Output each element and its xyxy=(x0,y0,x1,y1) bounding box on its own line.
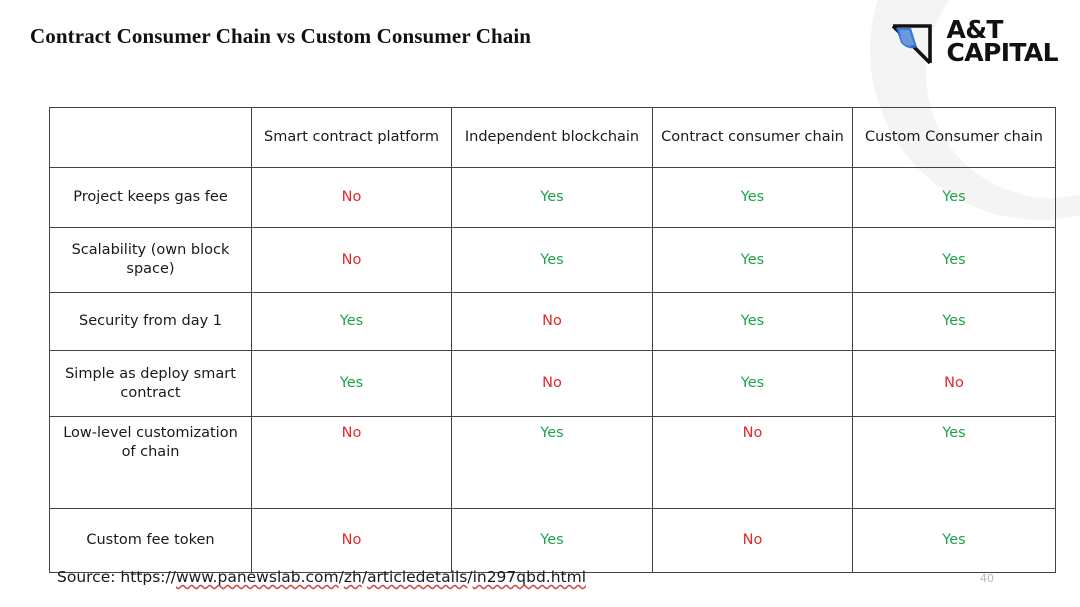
cell-value: Yes xyxy=(452,228,653,293)
source-prefix: Source: xyxy=(57,568,120,586)
table-header-row: Smart contract platform Independent bloc… xyxy=(50,108,1056,168)
row-label-custom-fee-token: Custom fee token xyxy=(50,509,252,573)
column-header-contract-consumer-chain: Contract consumer chain xyxy=(653,108,853,168)
row-label-security-from-day-1: Security from day 1 xyxy=(50,293,252,351)
row-label-simple-as-deploy-smart-contract: Simple as deploy smart contract xyxy=(50,351,252,417)
column-header-custom-consumer-chain: Custom Consumer chain xyxy=(853,108,1056,168)
cell-value: Yes xyxy=(252,351,452,417)
page-title: Contract Consumer Chain vs Custom Consum… xyxy=(30,24,531,49)
cell-value: No xyxy=(252,417,452,509)
cell-value: No xyxy=(252,509,452,573)
cell-value: No xyxy=(452,351,653,417)
brand-logo-text: A&T CAPITAL xyxy=(946,18,1058,64)
cell-value: Yes xyxy=(853,228,1056,293)
cell-value: Yes xyxy=(653,228,853,293)
column-header-smart-contract-platform: Smart contract platform xyxy=(252,108,452,168)
row-label-project-keeps-gas-fee: Project keeps gas fee xyxy=(50,168,252,228)
cell-value: No xyxy=(252,228,452,293)
table-row: Custom fee token No Yes No Yes xyxy=(50,509,1056,573)
cell-value: No xyxy=(653,417,853,509)
cell-value: Yes xyxy=(252,293,452,351)
source-citation: Source: https://www.panewslab.com/zh/art… xyxy=(57,568,586,586)
table-row: Low-level customization of chain No Yes … xyxy=(50,417,1056,509)
cell-value: Yes xyxy=(853,168,1056,228)
source-url-segment-zh: zh xyxy=(344,568,362,586)
cell-value: Yes xyxy=(653,293,853,351)
cell-value: Yes xyxy=(853,509,1056,573)
row-label-low-level-customization: Low-level customization of chain xyxy=(50,417,252,509)
triangle-arrow-mark-icon xyxy=(889,17,937,65)
brand-logo-line-2: CAPITAL xyxy=(946,41,1058,64)
cell-value: Yes xyxy=(853,293,1056,351)
table-row: Scalability (own block space) No Yes Yes… xyxy=(50,228,1056,293)
source-url-scheme: https:// xyxy=(120,568,176,586)
source-url-segment-file: in297qbd.html xyxy=(473,568,586,586)
row-label-scalability: Scalability (own block space) xyxy=(50,228,252,293)
cell-value: Yes xyxy=(653,351,853,417)
cell-value: No xyxy=(853,351,1056,417)
comparison-table: Smart contract platform Independent bloc… xyxy=(49,107,1056,573)
cell-value: Yes xyxy=(452,509,653,573)
brand-logo: A&T CAPITAL xyxy=(889,17,1058,65)
table-row: Security from day 1 Yes No Yes Yes xyxy=(50,293,1056,351)
cell-value: Yes xyxy=(452,168,653,228)
cell-value: Yes xyxy=(653,168,853,228)
cell-value: No xyxy=(452,293,653,351)
page-number: 40 xyxy=(980,572,994,585)
cell-value: No xyxy=(252,168,452,228)
source-url-segment-articledetails: articledetails xyxy=(367,568,467,586)
table-corner-cell xyxy=(50,108,252,168)
cell-value: No xyxy=(653,509,853,573)
cell-value: Yes xyxy=(853,417,1056,509)
source-url-host: www.panewslab.com xyxy=(176,568,339,586)
cell-value: Yes xyxy=(452,417,653,509)
table-row: Simple as deploy smart contract Yes No Y… xyxy=(50,351,1056,417)
table-row: Project keeps gas fee No Yes Yes Yes xyxy=(50,168,1056,228)
column-header-independent-blockchain: Independent blockchain xyxy=(452,108,653,168)
